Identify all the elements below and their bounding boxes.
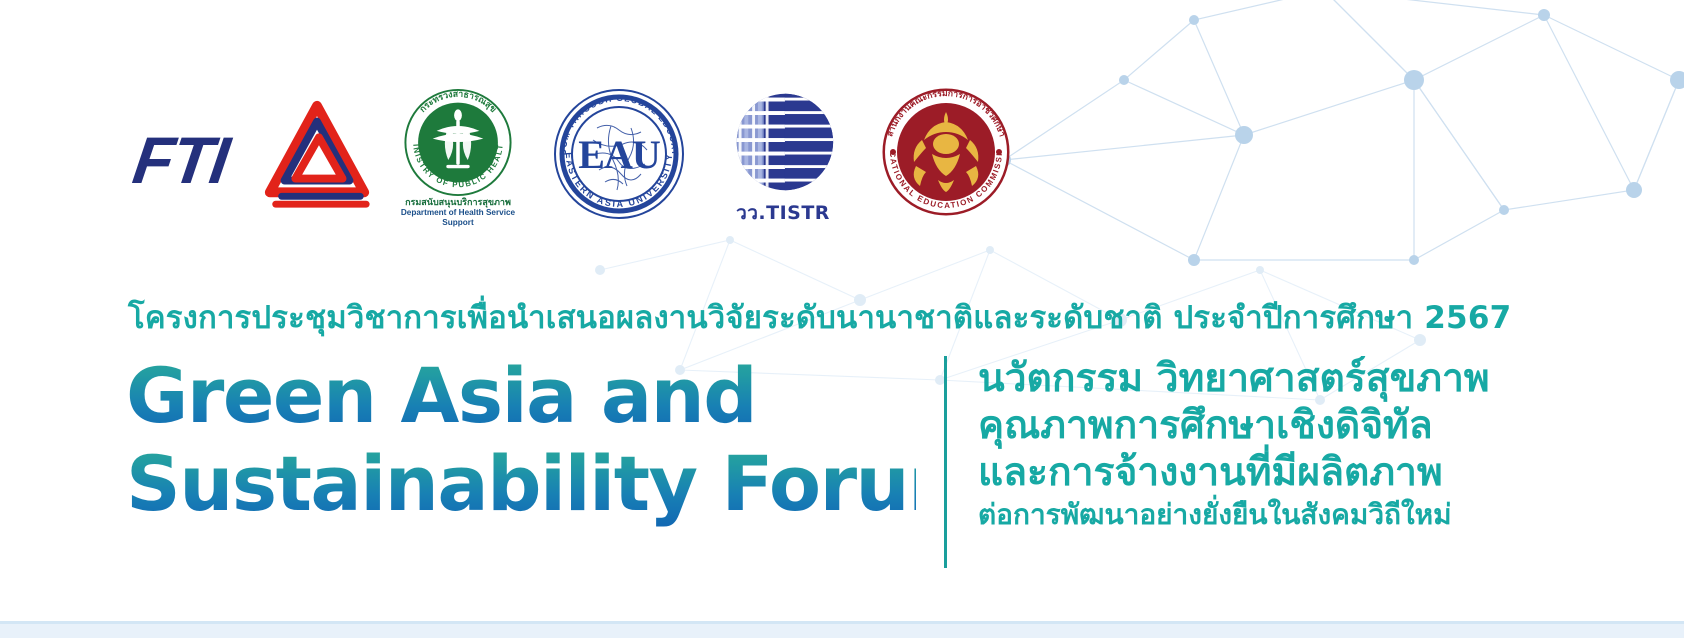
logo-eastern-asia-university: WISDOM THROUGH GLOBAL EDUCATION EASTERN … bbox=[544, 88, 694, 228]
partner-logo-row: FTI กระทรวงสา bbox=[130, 88, 1016, 238]
tistr-wordmark: วว.TISTR bbox=[736, 198, 830, 228]
logo-vocational-education-commission: สำนักงานคณะกรรมการการอาชีวศึกษา VOCATION… bbox=[876, 88, 1016, 228]
tistr-latin-abbr: TISTR bbox=[766, 202, 830, 224]
fti-wordmark: FTI bbox=[129, 122, 233, 198]
bottom-bar bbox=[0, 624, 1684, 638]
theme-line-4: ต่อการพัฒนาอย่างยั่งยืนในสังคมวิถีใหม่ bbox=[978, 498, 1490, 532]
moph-caption-english: Department of Health Service Support bbox=[394, 208, 522, 228]
tistr-globe-icon bbox=[723, 88, 843, 196]
vertical-divider bbox=[944, 356, 947, 568]
eau-seal-icon: WISDOM THROUGH GLOBAL EDUCATION EASTERN … bbox=[553, 88, 685, 220]
moph-seal-icon: กระทรวงสาธารณสุข MINISTRY OF PUBLIC HEAL… bbox=[402, 88, 514, 197]
tistr-thai-abbr: วว. bbox=[736, 202, 766, 224]
logo-fti: FTI bbox=[130, 88, 380, 218]
moph-caption-thai: กรมสนับสนุนบริการสุขภาพ bbox=[405, 197, 511, 208]
theme-text-block: นวัตกรรม วิทยาศาสตร์สุขภาพ คุณภาพการศึกษ… bbox=[978, 356, 1490, 532]
svg-text:EAU: EAU bbox=[578, 132, 660, 177]
thai-subtitle: โครงการประชุมวิชาการเพื่อนำเสนอผลงานวิจั… bbox=[128, 292, 1511, 342]
title-line-1: Green Asia and bbox=[126, 352, 916, 440]
theme-line-2: คุณภาพการศึกษาเชิงดิจิทัล bbox=[978, 403, 1490, 450]
conference-banner: FTI กระทรวงสา bbox=[0, 0, 1684, 638]
fti-triangle-icon bbox=[258, 94, 376, 212]
network-decoration-icon bbox=[944, 0, 1684, 290]
theme-line-1: นวัตกรรม วิทยาศาสตร์สุขภาพ bbox=[978, 356, 1490, 403]
vec-seal-icon: สำนักงานคณะกรรมการการอาชีวศึกษา VOCATION… bbox=[882, 88, 1010, 216]
main-title: Green Asia and Sustainability Forum bbox=[126, 352, 916, 528]
logo-ministry-of-public-health: กระทรวงสาธารณสุข MINISTRY OF PUBLIC HEAL… bbox=[394, 88, 522, 228]
theme-line-3: และการจ้างงานที่มีผลิตภาพ bbox=[978, 450, 1490, 497]
title-line-2: Sustainability Forum bbox=[126, 440, 916, 528]
logo-tistr: วว.TISTR bbox=[708, 88, 858, 228]
